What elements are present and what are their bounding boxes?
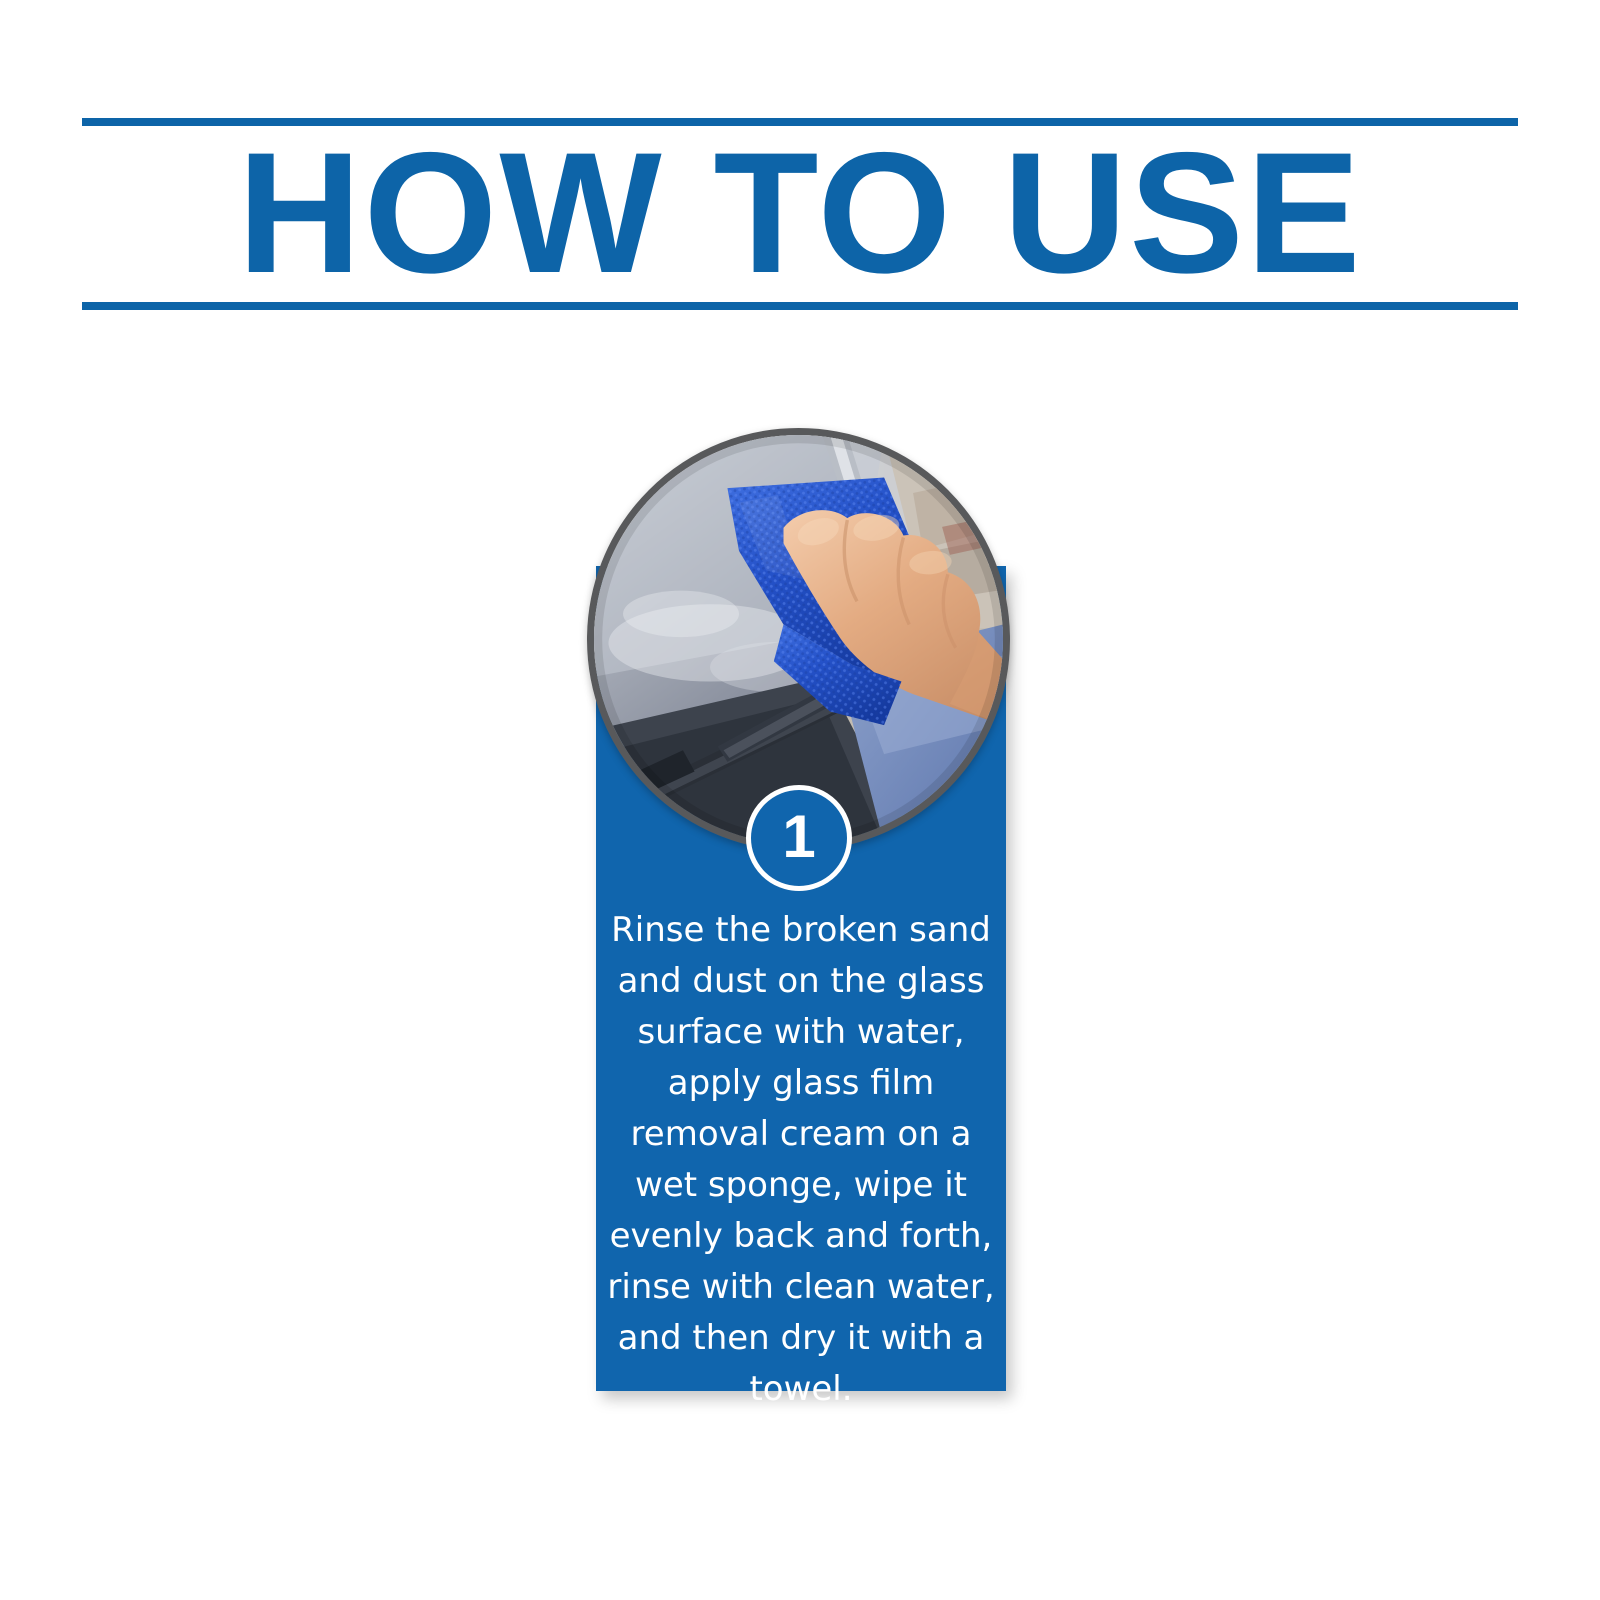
header-rule-bottom [82, 302, 1518, 310]
step-number-label: 1 [782, 807, 815, 867]
step-number-badge: 1 [746, 785, 852, 891]
step-description: Rinse the broken sand and dust on the gl… [600, 905, 1002, 1415]
page-header: HOW TO USE [82, 118, 1518, 310]
page-title: HOW TO USE [82, 124, 1518, 302]
